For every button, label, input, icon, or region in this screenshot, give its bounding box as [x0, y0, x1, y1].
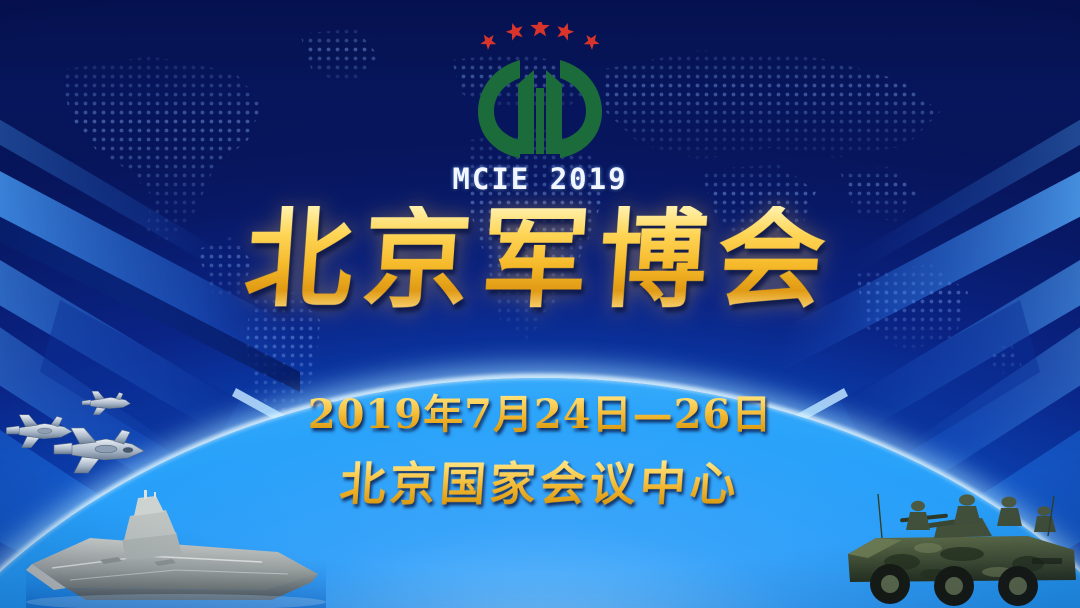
mcie-emblem-icon	[474, 54, 606, 160]
event-date: 2019年7月24日—26日	[0, 382, 1080, 440]
logo-wordmark: MCIE 2019	[420, 162, 660, 196]
event-logo: MCIE 2019	[420, 22, 660, 196]
page-title: 北京军博会	[0, 206, 1080, 314]
five-stars-icon	[420, 22, 660, 56]
expo-banner: MCIE 2019 北京军博会 2019年7月24日—26日 北京国家会议中心	[0, 0, 1080, 608]
event-venue: 北京国家会议中心	[0, 448, 1080, 514]
event-details: 2019年7月24日—26日 北京国家会议中心	[0, 382, 1080, 514]
